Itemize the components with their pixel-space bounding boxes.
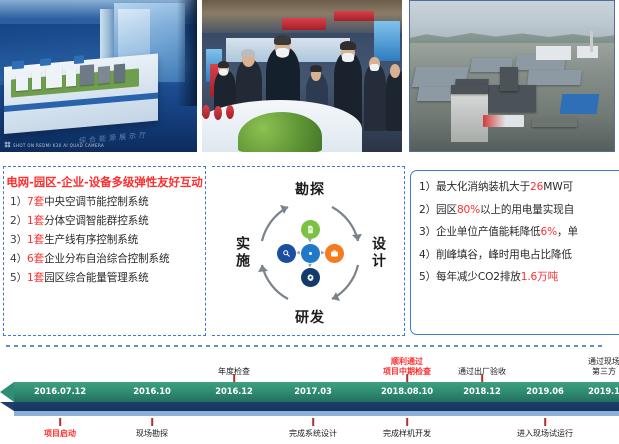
timeline-bar-underline: [14, 411, 619, 416]
list-item: 5）1套园区综合能量管理系统: [10, 273, 205, 284]
cycle-label-bottom: 研发: [295, 307, 325, 327]
timeline-below-label: 完成系统设计: [289, 429, 337, 439]
left-panel-list: 1）7套中央空调节能控制系统 2）1套分体空调智能群控系统 3）1套生产线有序控…: [10, 197, 205, 292]
list-item: 1）最大化消纳装机大于26MW可: [419, 182, 619, 193]
timeline-date: 2018.08.10: [381, 386, 433, 396]
photo-exhibition-hall-city-model: 综合能源展示厅 SHOT ON REDMI K30 AI QUAD CAMERA: [0, 0, 197, 152]
document-icon: [301, 220, 320, 239]
briefcase-icon: [325, 244, 344, 263]
right-panel-list: 1）最大化消纳装机大于26MW可 2）园区80%以上的用电量实现自 3）企业单位…: [419, 182, 619, 295]
gear-icon: [301, 268, 320, 287]
list-item: 4）6套企业分布自治综合控制系统: [10, 254, 205, 265]
timeline-bar-shadow: [14, 402, 619, 411]
list-item: 5）每年减少CO2排放1.6万吨: [419, 272, 619, 283]
timeline-date: 2016.12: [215, 386, 252, 396]
timeline-tick-up: [481, 374, 483, 382]
timeline-date: 2016.10: [133, 386, 170, 396]
timeline-below-label: 项目启动: [44, 429, 76, 439]
timeline-date: 2019.06: [526, 386, 563, 396]
timeline-tick-up: [233, 374, 235, 382]
timeline-date: 2019.1: [588, 386, 619, 396]
timeline-above-label: 通过现场第三方: [588, 357, 619, 376]
cycle-label-left: 实施: [232, 236, 252, 270]
timeline-date: 2018.12: [463, 386, 500, 396]
cycle-core-nodes: ▼ ▼ ◀ ▶: [278, 221, 342, 285]
photo-row: 综合能源展示厅 SHOT ON REDMI K30 AI QUAD CAMERA: [0, 0, 619, 155]
center-cycle-panel: 勘探 设计 研发 实施 ▼ ▼ ◀ ▶: [212, 166, 405, 336]
cycle-label-top: 勘探: [295, 179, 325, 199]
right-info-panel: 1）最大化消纳装机大于26MW可 2）园区80%以上的用电量实现自 3）企业单位…: [410, 170, 619, 335]
timeline-tick-down: [59, 418, 61, 426]
slide-root: 综合能源展示厅 SHOT ON REDMI K30 AI QUAD CAMERA: [0, 0, 619, 444]
timeline-date: 2017.03: [294, 386, 331, 396]
photo-officials-viewing-model: [202, 0, 402, 152]
list-item: 4）削峰填谷，峰时用电占比降低: [419, 250, 619, 261]
magnifier-icon: [277, 244, 296, 263]
left-info-panel: 电网-园区-企业-设备多级弹性友好互动 1）7套中央空调节能控制系统 2）1套分…: [3, 166, 206, 336]
list-item: 2）1套分体空调智能群控系统: [10, 216, 205, 227]
hub-icon: [301, 244, 320, 263]
cycle-diagram: 勘探 设计 研发 实施 ▼ ▼ ◀ ▶: [240, 183, 380, 323]
timeline-date: 2016.07.12: [34, 386, 86, 396]
timeline-tick-down: [544, 418, 546, 426]
list-item: 3）1套生产线有序控制系统: [10, 235, 205, 246]
list-item: 2）园区80%以上的用电量实现自: [419, 205, 619, 216]
timeline-tick-down: [312, 418, 314, 426]
left-panel-title: 电网-园区-企业-设备多级弹性友好互动: [4, 174, 205, 190]
list-item: 1）7套中央空调节能控制系统: [10, 197, 205, 208]
timeline-top-divider: [6, 345, 606, 347]
timeline-tick-down: [151, 418, 153, 426]
cycle-label-right: 设计: [368, 236, 388, 270]
photo-aerial-industrial-park: [409, 0, 615, 152]
timeline-tick-up: [406, 374, 408, 382]
timeline-tick-down: [406, 418, 408, 426]
list-item: 3）企业单位产值能耗降低6%，单: [419, 227, 619, 238]
timeline-below-label: 进入现场试运行: [517, 429, 573, 439]
timeline-below-label: 现场勘探: [136, 429, 168, 439]
timeline-below-label: 完成样机开发: [383, 429, 431, 439]
project-timeline: 2016.07.12项目启动2016.10现场勘探年度检查2016.122017…: [0, 345, 619, 444]
camera-watermark: SHOT ON REDMI K30 AI QUAD CAMERA: [4, 141, 104, 148]
